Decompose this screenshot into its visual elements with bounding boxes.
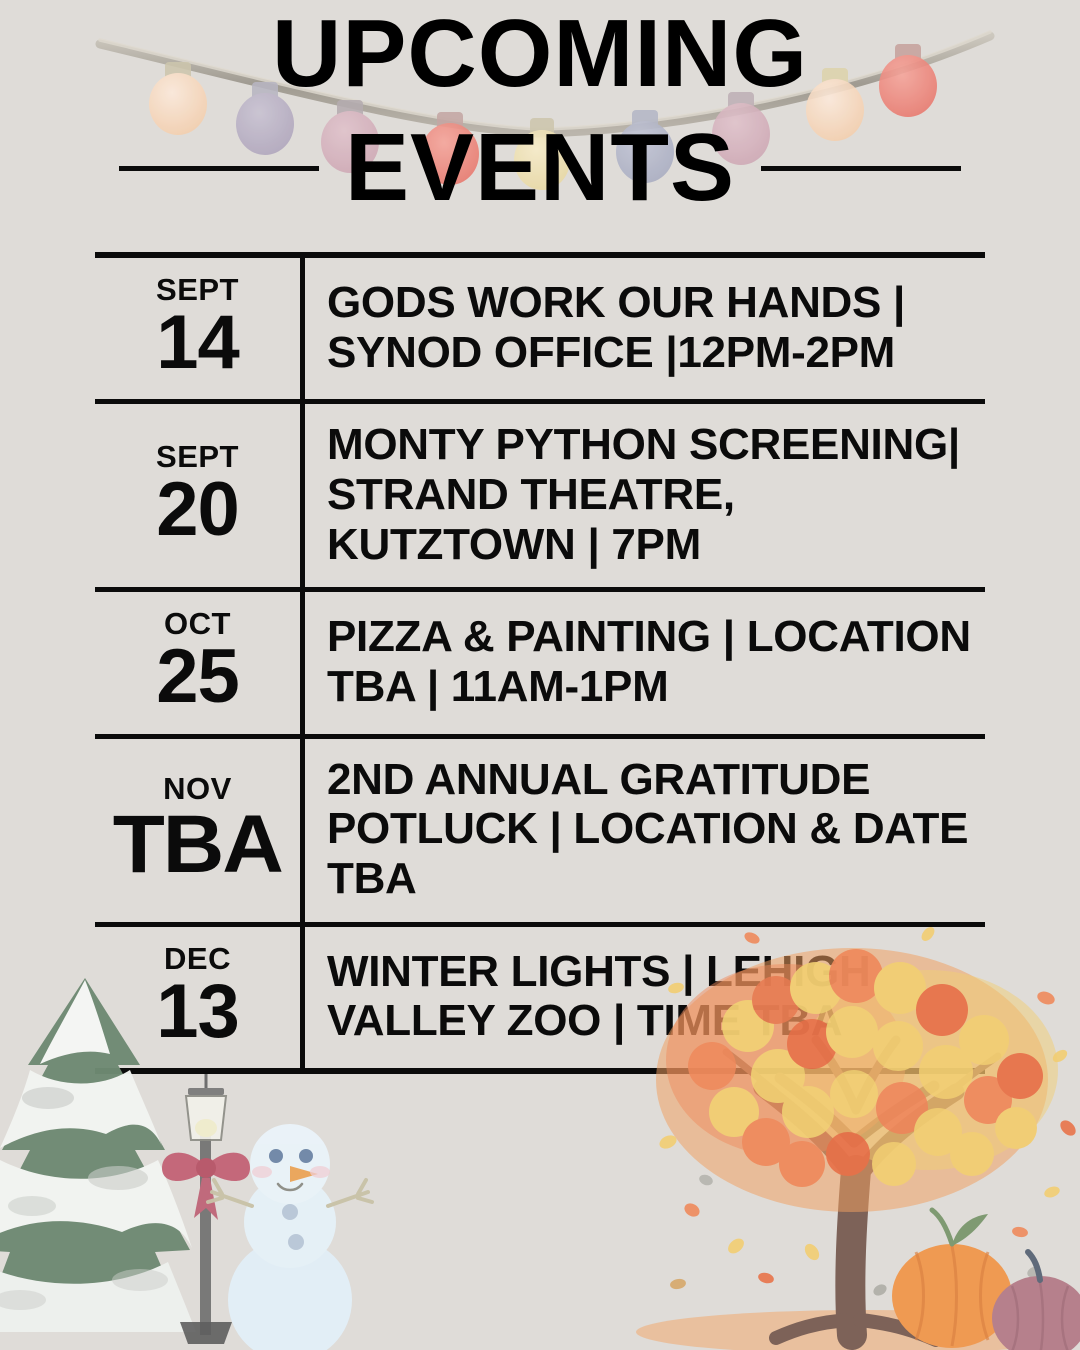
poster-header: UPCOMING EVENTS <box>0 0 1080 216</box>
event-day: 14 <box>156 307 239 379</box>
table-row[interactable]: NOV TBA 2ND ANNUAL GRATITUDE POTLUCK | L… <box>95 739 985 922</box>
pumpkin-orange <box>892 1210 1012 1348</box>
page-title-line1: UPCOMING <box>0 6 1080 102</box>
event-description-cell: PIZZA & PAINTING | LOCATION TBA | 11AM-1… <box>305 592 985 733</box>
event-description-cell: GODS WORK OUR HANDS | SYNOD OFFICE |12PM… <box>305 258 985 399</box>
event-description: WINTER LIGHTS | LEHIGH VALLEY ZOO | TIME… <box>327 947 985 1046</box>
table-bottom-rule <box>95 1068 985 1074</box>
table-row[interactable]: OCT 25 PIZZA & PAINTING | LOCATION TBA |… <box>95 592 985 733</box>
event-day: 25 <box>156 641 239 713</box>
events-table: SEPT 14 GODS WORK OUR HANDS | SYNOD OFFI… <box>95 216 985 1074</box>
event-date-cell: SEPT 20 <box>95 404 300 587</box>
event-description-cell: WINTER LIGHTS | LEHIGH VALLEY ZOO | TIME… <box>305 927 985 1068</box>
snowman <box>208 1124 372 1350</box>
event-day: 13 <box>156 976 239 1048</box>
table-row[interactable]: SEPT 20 MONTY PYTHON SCREENING| STRAND T… <box>95 404 985 587</box>
lamppost-with-red-bow <box>162 1074 250 1344</box>
table-row[interactable]: DEC 13 WINTER LIGHTS | LEHIGH VALLEY ZOO… <box>95 927 985 1068</box>
table-row[interactable]: SEPT 14 GODS WORK OUR HANDS | SYNOD OFFI… <box>95 258 985 399</box>
event-description: PIZZA & PAINTING | LOCATION TBA | 11AM-1… <box>327 612 985 711</box>
page-title-line2: EVENTS <box>345 120 735 216</box>
pumpkin-mauve <box>992 1252 1080 1350</box>
event-day: TBA <box>113 806 282 884</box>
event-date-cell: SEPT 14 <box>95 258 300 399</box>
event-description-cell: MONTY PYTHON SCREENING| STRAND THEATRE, … <box>305 404 985 587</box>
event-date-cell: OCT 25 <box>95 592 300 733</box>
event-description: 2ND ANNUAL GRATITUDE POTLUCK | LOCATION … <box>327 755 985 904</box>
upcoming-events-poster: UPCOMING EVENTS SEPT 14 GODS WORK OUR HA… <box>0 0 1080 1350</box>
event-date-cell: NOV TBA <box>95 739 300 922</box>
title-rule-right <box>761 166 961 171</box>
title-rule-left <box>119 166 319 171</box>
event-description: MONTY PYTHON SCREENING| STRAND THEATRE, … <box>327 420 985 569</box>
event-day: 20 <box>156 474 239 546</box>
event-description-cell: 2ND ANNUAL GRATITUDE POTLUCK | LOCATION … <box>305 739 985 922</box>
event-description: GODS WORK OUR HANDS | SYNOD OFFICE |12PM… <box>327 278 985 377</box>
tree-trunk <box>726 1040 998 1340</box>
page-title-row: EVENTS <box>0 120 1080 216</box>
event-date-cell: DEC 13 <box>95 927 300 1068</box>
